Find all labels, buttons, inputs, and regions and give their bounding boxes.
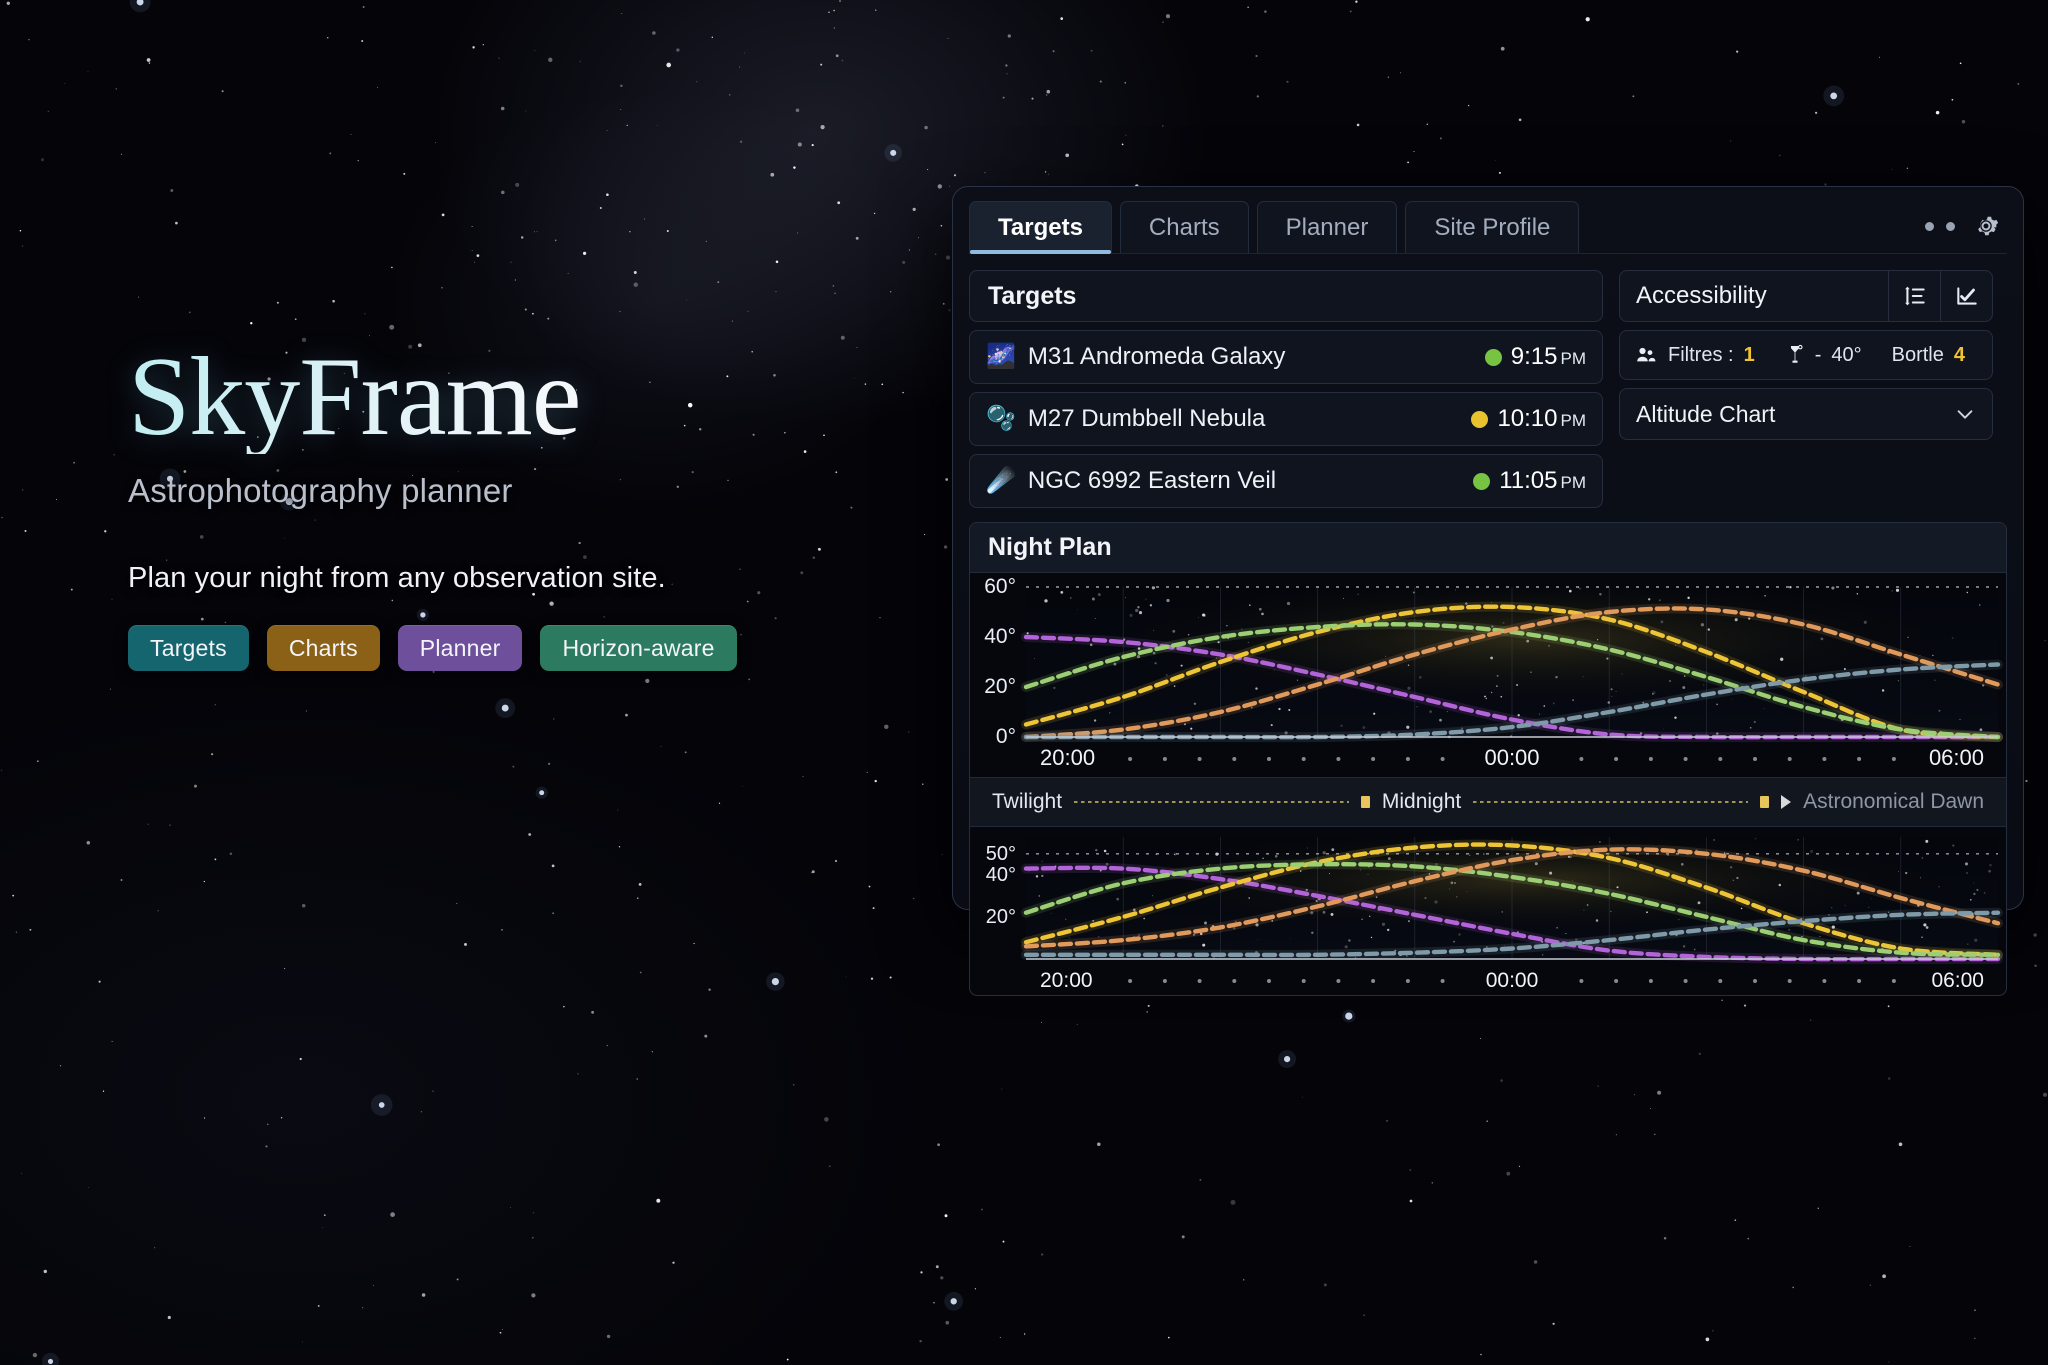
target-status: 9:15PM [1485,343,1586,371]
target-time: 9:15PM [1511,343,1586,371]
altitude-chart-top[interactable]: 0°20°40°60°20:0000:0006:00 [970,573,2006,777]
svg-text:50°: 50° [986,843,1016,865]
svg-text:00:00: 00:00 [1484,745,1539,770]
filters-value: 1 [1744,344,1755,367]
table-row[interactable]: ☄️ NGC 6992 Eastern Veil 11:05PM [969,454,1603,508]
status-badge [1473,473,1490,490]
bortle-label: Bortle [1892,344,1944,367]
hero-subtitle: Astrophotography planner [128,472,848,510]
twilight-marker-left [1361,796,1370,808]
twilight-marker-right [1760,796,1769,808]
chart-check-icon[interactable] [1940,270,1992,322]
twilight-connector-left [1074,801,1349,803]
hero-tagline: Plan your night from any observation sit… [128,562,848,595]
accessibility-column: Accessibility [1619,270,1993,508]
svg-text:0°: 0° [996,725,1016,748]
people-icon [1634,343,1658,367]
comet-icon: ☄️ [986,469,1016,493]
targets-panel-title: Targets [969,270,1603,322]
altitude-chart-bottom[interactable]: 20°40°50°20:0000:0006:00 [970,827,2006,995]
tab-bar-actions [1925,211,2007,253]
svg-text:20:00: 20:00 [1040,745,1095,770]
svg-text:06:00: 06:00 [1929,745,1984,770]
target-name: NGC 6992 Eastern Veil [1028,467,1473,495]
temperature-dash: - [1815,344,1822,367]
bortle-value: 4 [1954,344,1965,367]
status-badge [1471,411,1488,428]
chart-type-value: Altitude Chart [1636,401,1954,428]
chart-type-select[interactable]: Altitude Chart [1619,388,1993,440]
tab-planner[interactable]: Planner [1257,201,1398,253]
target-status: 10:10PM [1471,405,1586,433]
galaxy-icon: 🌌 [986,345,1016,369]
pill-charts[interactable]: Charts [267,625,380,671]
target-status: 11:05PM [1473,467,1586,495]
accessibility-title: Accessibility [1636,282,1888,310]
page-title: SkyFrame [128,340,848,454]
svg-text:20°: 20° [984,675,1016,698]
target-time: 11:05PM [1499,467,1586,495]
targets-column: Targets 🌌 M31 Andromeda Galaxy 9:15PM 🫧 … [969,270,1603,508]
accessibility-panel: Accessibility [1619,270,1993,322]
hero-section: SkyFrame Astrophotography planner Plan y… [128,340,848,671]
thermometer-icon [1785,343,1805,367]
tab-site-profile[interactable]: Site Profile [1405,201,1579,253]
twilight-start-label: Twilight [992,790,1062,814]
svg-text:20:00: 20:00 [1040,969,1093,992]
accessibility-meta-row: Filtres : 1 - 40° Bortle 4 [1619,330,1993,380]
filters-label: Filtres : [1668,344,1734,367]
tab-charts[interactable]: Charts [1120,201,1249,253]
pill-targets[interactable]: Targets [128,625,249,671]
pill-planner[interactable]: Planner [398,625,523,671]
tab-targets[interactable]: Targets [969,201,1112,253]
temperature-value: 40° [1831,344,1861,367]
svg-text:40°: 40° [986,864,1016,886]
app-body: Targets 🌌 M31 Andromeda Galaxy 9:15PM 🫧 … [969,270,2007,508]
twilight-strip: Twilight Midnight Astronomical Dawn [970,777,2006,827]
twilight-connector-right [1473,801,1748,803]
table-row[interactable]: 🌌 M31 Andromeda Galaxy 9:15PM [969,330,1603,384]
night-plan-panel: Night Plan 0°20°40°60°20:0000:0006:00 Tw… [969,522,2007,996]
chevron-down-icon [1954,403,1976,425]
list-indent-icon[interactable] [1888,270,1940,322]
svg-text:40°: 40° [984,625,1016,648]
twilight-mid-label: Midnight [1382,790,1461,814]
night-plan-body: 0°20°40°60°20:0000:0006:00 Twilight Midn… [970,573,2006,995]
status-badge [1485,349,1502,366]
nebula-icon: 🫧 [986,407,1016,431]
target-name: M27 Dumbbell Nebula [1028,405,1472,433]
svg-text:20°: 20° [986,906,1016,928]
svg-text:60°: 60° [984,575,1016,598]
hero-pill-row: Targets Charts Planner Horizon-aware [128,625,848,671]
two-dots-icon[interactable] [1925,222,1955,231]
table-row[interactable]: 🫧 M27 Dumbbell Nebula 10:10PM [969,392,1603,446]
svg-text:00:00: 00:00 [1486,969,1539,992]
gear-icon[interactable] [1971,211,2001,241]
target-time: 10:10PM [1497,405,1586,433]
night-plan-title: Night Plan [970,523,2006,573]
twilight-arrow-icon [1781,795,1791,809]
tab-bar: Targets Charts Planner Site Profile [969,201,2007,254]
app-window: Targets Charts Planner Site Profile Targ… [952,186,2024,910]
svg-text:06:00: 06:00 [1931,969,1984,992]
pill-horizon-aware[interactable]: Horizon-aware [540,625,736,671]
page-root: SkyFrame Astrophotography planner Plan y… [0,0,2048,1365]
target-name: M31 Andromeda Galaxy [1028,343,1485,371]
twilight-end-label: Astronomical Dawn [1803,790,1984,814]
